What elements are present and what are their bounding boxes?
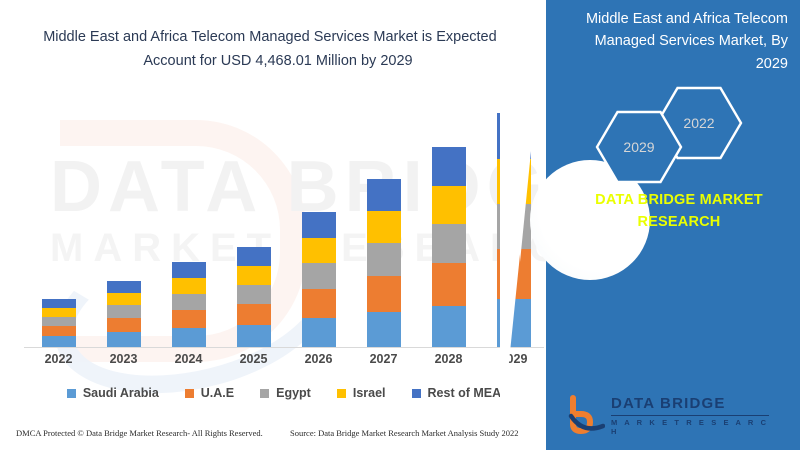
bar-segment-uae-2023 [107,318,141,332]
x-axis-label-2029: 2029 [482,352,546,366]
bar-column-2026 [302,212,336,347]
bar-segment-saudiarabia-2024 [172,328,206,347]
x-axis-label-2023: 2023 [92,352,156,366]
x-axis-label-2025: 2025 [222,352,286,366]
stacked-bar-chart [24,96,544,348]
page-title: Middle East and Africa Telecom Managed S… [28,26,528,74]
bar-column-2023 [107,281,141,347]
legend-swatch-icon [67,389,76,398]
bar-segment-egypt-2028 [432,224,466,263]
bar-segment-uae-2024 [172,310,206,328]
legend-item-restofmea[interactable]: Rest of MEA [412,386,502,400]
legend-swatch-icon [185,389,194,398]
bar-segment-uae-2025 [237,304,271,325]
bar-segment-restofmea-2026 [302,212,336,238]
bar-segment-israel-2025 [237,266,271,285]
bar-segment-saudiarabia-2023 [107,332,141,347]
chart-plot-area [24,96,544,348]
bar-segment-restofmea-2022 [42,299,76,308]
bar-segment-israel-2023 [107,293,141,305]
hexagon-badges: 2022 2029 [590,86,780,184]
bar-segment-saudiarabia-2025 [237,325,271,347]
legend-swatch-icon [260,389,269,398]
chart-baseline [24,347,544,348]
legend-label: Rest of MEA [428,386,502,400]
right-panel-title: Middle East and Africa Telecom Managed S… [560,8,788,75]
x-axis-label-2022: 2022 [27,352,91,366]
chart-legend: Saudi ArabiaU.A.EEgyptIsraelRest of MEA [24,382,544,404]
legend-item-uae[interactable]: U.A.E [185,386,234,400]
right-panel-brand: DATA BRIDGE MARKET RESEARCH [574,190,784,234]
footer-source-note: Source: Data Bridge Market Research Mark… [290,428,519,438]
footer-dmca-notice: DMCA Protected © Data Bridge Market Rese… [16,428,263,438]
legend-item-israel[interactable]: Israel [337,386,386,400]
bar-segment-egypt-2026 [302,263,336,289]
bar-segment-egypt-2027 [367,243,401,276]
legend-label: U.A.E [201,386,234,400]
bar-segment-israel-2028 [432,186,466,224]
x-axis-label-2026: 2026 [287,352,351,366]
bar-segment-saudiarabia-2026 [302,318,336,347]
legend-label: Egypt [276,386,311,400]
bar-column-2024 [172,262,206,347]
company-logo-text: DATA BRIDGE M A R K E T R E S E A R C H [611,396,781,436]
legend-label: Israel [353,386,386,400]
bar-column-2022 [42,299,76,347]
bar-segment-israel-2024 [172,278,206,294]
bar-segment-uae-2027 [367,276,401,312]
company-logo: DATA BRIDGE M A R K E T R E S E A R C H [565,392,785,438]
legend-item-saudiarabia[interactable]: Saudi Arabia [67,386,159,400]
x-axis-label-2028: 2028 [417,352,481,366]
legend-item-egypt[interactable]: Egypt [260,386,311,400]
bar-segment-saudiarabia-2022 [42,336,76,347]
x-axis-label-2024: 2024 [157,352,221,366]
legend-label: Saudi Arabia [83,386,159,400]
hexagon-badge-2029-label: 2029 [596,110,682,184]
chart-x-axis-labels: 20222023202420252026202720282029 [24,352,544,374]
company-logo-mark [565,394,605,434]
bar-segment-egypt-2023 [107,305,141,318]
bar-segment-israel-2027 [367,211,401,243]
company-logo-rule [611,415,769,417]
bar-segment-restofmea-2023 [107,281,141,293]
bar-segment-uae-2022 [42,326,76,336]
bar-segment-israel-2022 [42,308,76,317]
legend-swatch-icon [412,389,421,398]
bar-segment-saudiarabia-2027 [367,312,401,347]
bar-segment-restofmea-2028 [432,147,466,186]
company-logo-tagline: M A R K E T R E S E A R C H [611,418,781,436]
right-panel-brand-line1: DATA BRIDGE MARKET [574,190,784,212]
bar-segment-uae-2028 [432,263,466,306]
bar-segment-saudiarabia-2028 [432,306,466,347]
bar-column-2028 [432,147,466,347]
bar-segment-egypt-2024 [172,294,206,310]
bar-segment-restofmea-2025 [237,247,271,266]
bar-segment-egypt-2025 [237,285,271,304]
right-panel-brand-line2: RESEARCH [574,212,784,234]
bar-segment-egypt-2022 [42,317,76,326]
bar-segment-restofmea-2024 [172,262,206,278]
bar-column-2027 [367,179,401,347]
hexagon-badge-2029: 2029 [596,110,682,184]
x-axis-label-2027: 2027 [352,352,416,366]
bar-segment-israel-2026 [302,238,336,263]
bar-column-2025 [237,247,271,347]
bar-segment-restofmea-2027 [367,179,401,211]
company-logo-name: DATA BRIDGE [611,396,781,413]
bar-segment-uae-2026 [302,289,336,318]
legend-swatch-icon [337,389,346,398]
infographic-canvas: DATA BRIDGE MARKET RESEARCH Middle East … [0,0,800,450]
